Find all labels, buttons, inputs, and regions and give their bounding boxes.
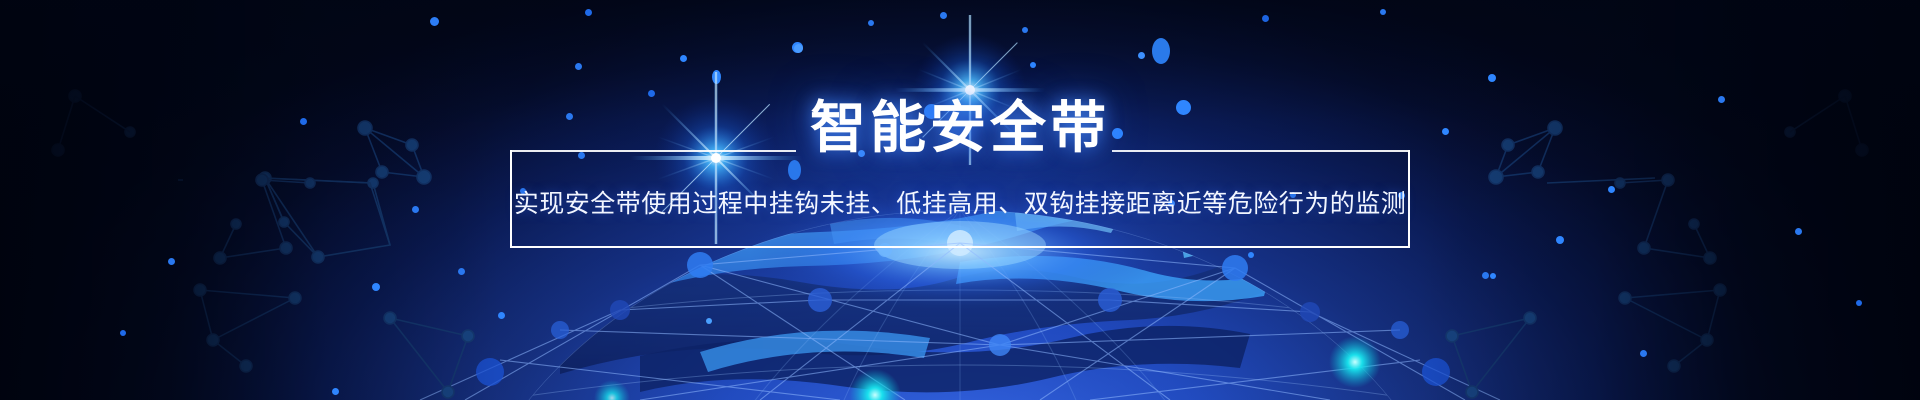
promo-banner: 智能安全带 实现安全带使用过程中挂钩未挂、低挂高用、双钩挂接距离近等危险行为的监… <box>0 0 1920 400</box>
banner-content: 智能安全带 实现安全带使用过程中挂钩未挂、低挂高用、双钩挂接距离近等危险行为的监… <box>0 0 1920 400</box>
page-title: 智能安全带 <box>0 96 1920 160</box>
banner-subtitle: 实现安全带使用过程中挂钩未挂、低挂高用、双钩挂接距离近等危险行为的监测 <box>0 185 1920 223</box>
